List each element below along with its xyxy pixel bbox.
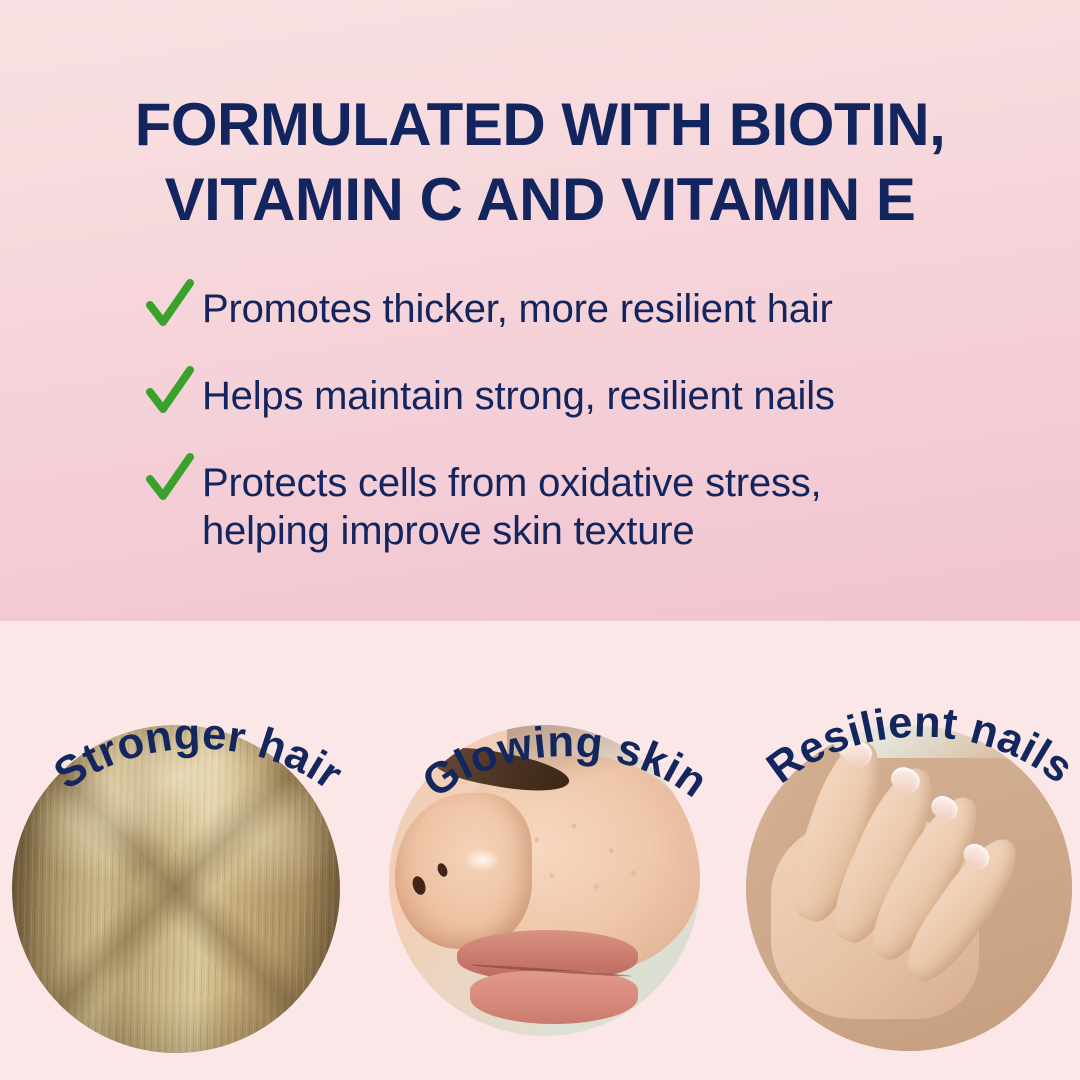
caption-nails-text: Resilient nails	[758, 697, 1080, 793]
face-lower-lip	[470, 971, 638, 1024]
benefit-photos-panel: Stronger hair	[0, 621, 1080, 1080]
benefit-item-1: Promotes thicker, more resilient hair	[146, 283, 1026, 334]
benefit-tile-skin: Glowing skin	[389, 725, 700, 1036]
caption-hair-text: Stronger hair	[45, 709, 351, 799]
benefit-text-2: Helps maintain strong, resilient nails	[202, 370, 835, 421]
page-title: FORMULATED WITH BIOTIN, VITAMIN C AND VI…	[0, 88, 1080, 236]
benefit-text-1-line-1: Promotes thicker, more resilient hair	[202, 285, 833, 334]
check-icon	[146, 279, 194, 331]
benefit-item-2: Helps maintain strong, resilient nails	[146, 370, 1026, 421]
headline-line-2: VITAMIN C AND VITAMIN E	[0, 163, 1080, 236]
benefit-text-2-line-1: Helps maintain strong, resilient nails	[202, 372, 835, 421]
benefit-tile-nails: Resilient nails	[746, 725, 1072, 1051]
benefit-text-3-line-2: helping improve skin texture	[202, 507, 821, 556]
headline-line-1: FORMULATED WITH BIOTIN,	[0, 88, 1080, 161]
headline-panel: FORMULATED WITH BIOTIN, VITAMIN C AND VI…	[0, 0, 1080, 621]
promo-image: FORMULATED WITH BIOTIN, VITAMIN C AND VI…	[0, 0, 1080, 1080]
check-icon	[146, 453, 194, 505]
benefit-text-1: Promotes thicker, more resilient hair	[202, 283, 833, 334]
check-icon	[146, 366, 194, 418]
benefit-tile-hair: Stronger hair	[12, 725, 340, 1053]
benefit-item-3: Protects cells from oxidative stress, he…	[146, 457, 1026, 557]
caption-arc-nails: Resilient nails	[710, 739, 1080, 879]
benefit-text-3: Protects cells from oxidative stress, he…	[202, 457, 821, 557]
benefits-list: Promotes thicker, more resilient hair He…	[146, 283, 1026, 556]
benefit-text-3-line-1: Protects cells from oxidative stress,	[202, 459, 821, 508]
caption-arc-hair: Stronger hair	[0, 743, 408, 883]
